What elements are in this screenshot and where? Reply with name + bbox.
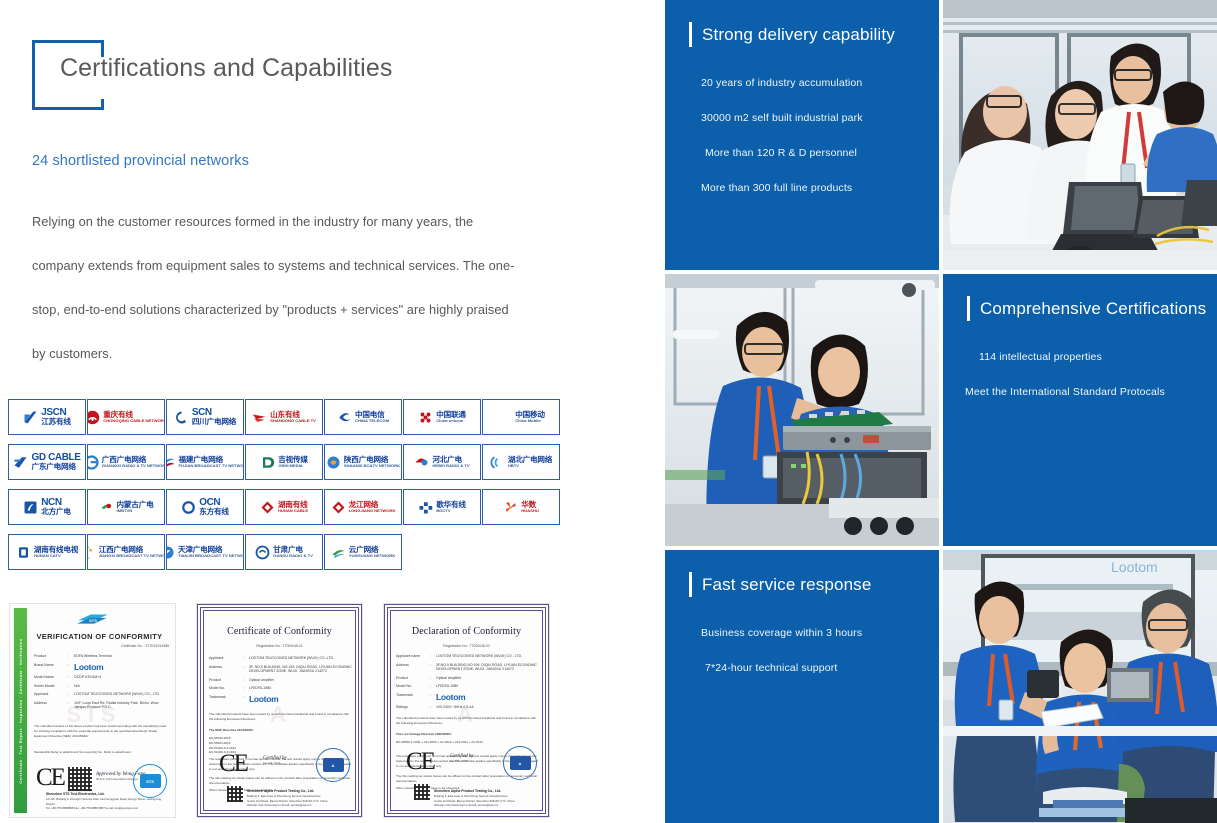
partner-logo-mark-icon	[331, 545, 346, 560]
partner-logo-en: TIANJIN BROADCAST TV NETWORK	[178, 554, 244, 558]
partner-logo-cell[interactable]: GD CABLE广东广电网络	[8, 444, 86, 480]
partner-logo-mark-icon	[260, 500, 275, 515]
panel-item-list: 20 years of industry accumulation 30000 …	[689, 77, 915, 217]
accent-bar-icon	[967, 296, 970, 321]
photo-rd-team-laboratory	[943, 0, 1217, 270]
footer-contact: Website: http://www.acpt.cn Email: servi…	[434, 803, 541, 807]
partner-logo-mark-icon	[23, 410, 38, 425]
qr-code-icon	[414, 784, 430, 800]
field-label: Trademark	[396, 693, 430, 702]
partner-logo-en: LONGJIANG NETWORK	[349, 509, 396, 513]
field-value: LFEDFA-1580	[249, 686, 354, 690]
partner-logo-en: China Mobile	[515, 419, 540, 423]
partner-logo-en: BGCTV	[436, 509, 450, 513]
partner-logo-text: 华数HUASHU	[521, 501, 539, 513]
field-label: Address	[396, 663, 430, 672]
footer-contact: Tel: +86-755-8888888 Fax: +86-755-8888 8…	[46, 806, 167, 810]
partner-logo-mark-icon	[99, 500, 114, 515]
panel-header: Comprehensive Certifications	[967, 296, 1193, 321]
partner-logo-text: 云广网络YUNGUANG NETWORK	[349, 546, 395, 558]
panel-fast-service-response: Fast service response Business coverage …	[665, 550, 939, 823]
panel-title: Comprehensive Certifications	[980, 299, 1206, 319]
photo-service-team-office: Lootom	[943, 550, 1217, 823]
field-label: Series Model	[34, 684, 68, 688]
partner-logo-cn: 江苏有线	[41, 418, 71, 426]
partner-logo-cn: 广东广电网络	[31, 463, 75, 471]
certificate-field: Model No. : LFEDFA-1580	[209, 686, 354, 690]
field-label: Product	[396, 676, 430, 680]
page-title: Certifications and Capabilities	[60, 54, 392, 83]
partner-logo-text: 歌华有线BGCTV	[436, 501, 466, 513]
partner-logo-en: HBTV	[508, 464, 519, 468]
panel-item: More than 300 full line products	[689, 182, 915, 194]
panel-item: 114 intellectual properties	[967, 351, 1193, 363]
field-label: Brand Name	[34, 663, 68, 672]
partner-logo-cell[interactable]: 歌华有线BGCTV	[403, 489, 481, 525]
partner-logo-cell[interactable]: 河北广电HEBEI RADIO & TV	[403, 444, 481, 480]
partner-logo-cell[interactable]: 重庆有线CHONGQING CABLE NETWORK	[87, 399, 165, 435]
field-label: Product	[209, 678, 243, 682]
panel-title: Fast service response	[702, 575, 871, 595]
partner-logo-mark-icon	[418, 500, 433, 515]
field-value: LOOTOM TELECOIVED NETWORK (WUXI) CO., LT…	[436, 654, 541, 658]
partner-logo-mark-icon	[252, 410, 267, 425]
certificate-paragraph: The submitted sample of the above produc…	[34, 724, 169, 738]
partner-logo-cell[interactable]: 甘肃广电GANSU RADIO & TV	[245, 534, 323, 570]
partner-logo-mark-icon	[326, 455, 341, 470]
partner-logo-en: GUANGXI RADIO & TV NETWORK	[102, 464, 165, 468]
accent-bar-icon	[689, 22, 692, 47]
official-seal-icon: A	[316, 748, 350, 782]
intro-line-4: by customers.	[32, 332, 524, 376]
panel-item: More than 120 R & D personnel	[689, 147, 915, 159]
partner-logo-cell[interactable]: 吉视传媒JISHI MEDIA	[245, 444, 323, 480]
signature-date: June 04, 2018	[263, 761, 287, 765]
official-seal-icon: A	[503, 746, 537, 780]
panel-item: 20 years of industry accumulation	[689, 77, 915, 89]
signature-block: Certified by June 04, 2018	[263, 756, 287, 765]
partner-logo-text: NCN北方广电	[41, 498, 71, 516]
certificate-paragraph: The submitted products have been tested …	[209, 712, 354, 722]
intro-line-3: stop, end-to-end solutions characterized…	[32, 288, 524, 332]
partner-logo-mark-icon	[16, 545, 31, 560]
partner-logo-mark-icon	[260, 455, 275, 470]
partner-logo-text: 吉视传媒JISHI MEDIA	[278, 456, 308, 468]
certificate-field: Product : EDFA Wireless Terminal	[34, 654, 169, 658]
partner-logo-text: 天津广电网络TIANJIN BROADCAST TV NETWORK	[178, 546, 244, 558]
partner-logo-mark-icon	[23, 500, 38, 515]
field-value: LOOTOM TELECOIVED NETWORK (WUXI) CO., LT…	[74, 692, 169, 696]
partner-logo-cell[interactable]: 中国电信CHINA TELECOM	[324, 399, 402, 435]
partner-logo-cell[interactable]: 云广网络YUNGUANG NETWORK	[324, 534, 402, 570]
partner-logo-text: 福建广电网络FUJIAN BROADCAST TV NETWORK	[179, 456, 245, 468]
partner-logo-cell[interactable]: 天津广电网络TIANJIN BROADCAST TV NETWORK	[166, 534, 244, 570]
certificate-card[interactable]: Declaration of Conformity Registration N…	[384, 604, 549, 817]
certificate-field: Series Model : N/A	[34, 684, 169, 688]
partner-logo-text: JSCN江苏有线	[41, 408, 71, 426]
partner-logo-en: IMBTVN	[117, 509, 133, 513]
qr-code-icon	[227, 786, 243, 802]
partner-logo-cell[interactable]: OCN东方有线	[166, 489, 244, 525]
standard-item: EN 60950-1:2006 + A11:2009 + A1:2010 + A…	[396, 740, 541, 745]
partner-logo-text: 龙江网络LONGJIANG NETWORK	[349, 501, 396, 513]
certificate-field: Applicant name : LOOTOM TELECOIVED NETWO…	[396, 654, 541, 658]
certificate-field: Address : 3F, NO.9 BUILDING, NO.199, DIQ…	[209, 665, 354, 674]
partner-logo-text: 重庆有线CHONGQING CABLE NETWORK	[103, 411, 165, 423]
certificate-fields: Applicant : LOOTOM TELECOIVED NETWORK (W…	[209, 656, 354, 707]
partner-logo-cell[interactable]: 中国联通China unicom	[403, 399, 481, 435]
certificate-card[interactable]: Certificate of Conformity Registration N…	[197, 604, 362, 817]
partner-logo-cell[interactable]: 陕西广电网络SHAANXI BC&TV NETWORK	[324, 444, 402, 480]
panel-item: 7*24-hour technical support	[689, 662, 915, 674]
brand-name: Lootom	[74, 663, 169, 672]
certificate-card[interactable]: Certificate · Test Report · Inspection ·…	[10, 604, 175, 817]
partner-logo-mark-icon	[255, 545, 270, 560]
footer-company: Shenzhen STS Test Electronics, Ltd.	[46, 792, 105, 796]
partner-logo-en: CHINA TELECOM	[355, 419, 389, 423]
partner-logo-cell[interactable]: 湖北广电网络HBTV	[482, 444, 560, 480]
certificate-body: STS VERIFICATION OF CONFORMITY Certifica…	[10, 604, 175, 817]
field-label: Trademark	[209, 695, 243, 704]
partner-logo-mark-icon	[166, 455, 176, 470]
partner-logo-cell[interactable]: 龙江网络LONGJIANG NETWORK	[324, 489, 402, 525]
partner-logo-text: 陕西广电网络SHAANXI BC&TV NETWORK	[344, 456, 400, 468]
brand-name: Lootom	[436, 693, 541, 702]
certificate-field: Applicant : LOOTOM TELECOIVED NETWORK (W…	[209, 656, 354, 660]
partner-logo-text: OCN东方有线	[199, 498, 229, 516]
partner-logo-en: HUASHU	[521, 509, 539, 513]
partner-logo-text: GD CABLE广东广电网络	[31, 453, 80, 471]
field-value: OCDP-KEH1M-H	[74, 675, 169, 679]
field-label: Address	[34, 701, 68, 710]
partner-logo-en: SHANDONG CABLE TV	[270, 419, 316, 423]
partner-logo-mark-icon	[13, 455, 28, 470]
partner-logo-en: CHONGQING CABLE NETWORK	[103, 419, 165, 423]
qr-code-icon	[68, 767, 92, 791]
directive-title: The Low Voltage Directive 2006/95/EC	[396, 732, 541, 737]
partner-logo-cn: 东方有线	[199, 508, 229, 516]
certificate-registration: Certificate No. : STS101914985	[30, 644, 169, 648]
partner-logo-en: HUNAN CABLE	[278, 509, 308, 513]
field-label: Ratings	[396, 705, 430, 709]
partner-logo-cell[interactable]: 福建广电网络FUJIAN BROADCAST TV NETWORK	[166, 444, 244, 480]
panel-item: Business coverage within 3 hours	[689, 627, 915, 639]
panel-header: Strong delivery capability	[689, 22, 915, 47]
field-value: EDFA Wireless Terminal	[74, 654, 169, 658]
partner-logo-text: 中国移动China Mobile	[515, 411, 545, 423]
panel-item: Meet the International Standard Protocal…	[965, 386, 1193, 398]
partner-logo-mark-icon	[490, 455, 505, 470]
field-label: Applicant	[34, 692, 68, 696]
partner-logo-mark-icon	[414, 455, 429, 470]
partner-logo-mark-icon	[174, 410, 189, 425]
field-value: 3F,NO.9 BUILDING,NO.199, DIQIU ROAD, LIY…	[436, 663, 541, 672]
partner-logo-mark-icon	[337, 410, 352, 425]
field-label: Product	[34, 654, 68, 658]
brand-name: Lootom	[249, 695, 354, 704]
partner-logo-text: 江西广电网络JIANGXI BROADCAST TV NETWORK	[99, 546, 165, 558]
partner-logo-mark-icon	[503, 500, 518, 515]
partner-logo-text: 湖南有线电视HUNAN CATV	[34, 546, 78, 558]
seal-text: STS	[140, 774, 161, 788]
certificate-row: Certificate · Test Report · Inspection ·…	[10, 604, 549, 817]
certificate-field: Product : Optical amplifier	[396, 676, 541, 680]
partner-logo-mark-icon	[181, 500, 196, 515]
partner-logo-text: 山东有线SHANDONG CABLE TV	[270, 411, 316, 423]
partner-logo-text: 内蒙古广电IMBTVN	[117, 501, 154, 513]
footer-contact: Website: http://www.acpt.cn Email: servi…	[247, 803, 354, 807]
field-label: Model No.	[209, 686, 243, 690]
partner-logo-en: HEBEI RADIO & TV	[432, 464, 469, 468]
capabilities-page: Certifications and Capabilities 24 short…	[0, 0, 1217, 823]
section-subheading: 24 shortlisted provincial networks	[32, 153, 249, 169]
certificate-title: Certificate of Conformity	[205, 626, 354, 637]
partner-logo-mark-icon	[87, 410, 100, 425]
partner-logo-mark-icon	[497, 410, 512, 425]
partner-logo-cell[interactable]: 广西广电网络GUANGXI RADIO & TV NETWORK	[87, 444, 165, 480]
left-content-column: Certifications and Capabilities 24 short…	[0, 0, 665, 823]
panel-item: 30000 m2 self built industrial park	[689, 112, 915, 124]
field-label: Model No.	[396, 684, 430, 688]
ce-mark-icon: CE	[406, 748, 434, 776]
certificate-title: Declaration of Conformity	[392, 626, 541, 637]
accent-bar-icon	[689, 572, 692, 597]
photo-illustration: Lootom	[943, 550, 1217, 823]
partner-logo-text: 广西广电网络GUANGXI RADIO & TV NETWORK	[102, 456, 165, 468]
photo-illustration	[943, 0, 1217, 270]
partner-logo-text: 甘肃广电GANSU RADIO & TV	[273, 546, 313, 558]
svg-text:Lootom: Lootom	[1111, 559, 1158, 575]
partner-logo-en: FUJIAN BROADCAST TV NETWORK	[179, 464, 245, 468]
field-label: Applicant	[209, 656, 243, 660]
footer-company: Shenzhen Alpha Product Testing Co., Ltd.	[434, 789, 501, 793]
partner-logo-cn: 四川广电网络	[192, 418, 236, 426]
certificate-field: Trademark : Lootom	[396, 693, 541, 702]
panel-strong-delivery-capability: Strong delivery capability 20 years of i…	[665, 0, 939, 270]
field-value: N/A	[74, 684, 169, 688]
field-label: Model Name	[34, 675, 68, 679]
certificate-field: Model No. : LFEDFA-1580	[396, 684, 541, 688]
certificate-registration: Registration No.: TT000048-02	[392, 644, 541, 648]
partner-logo-mark-icon	[87, 545, 96, 560]
field-value: LOOTOM TELECOIVED NETWORK (WUXI) CO.,LTD…	[249, 656, 354, 660]
partner-logo-en: HUNAN CATV	[34, 554, 61, 558]
seal-text: A	[323, 758, 344, 772]
intro-line-2: company extends from equipment sales to …	[32, 244, 524, 288]
ce-mark-icon: CE	[36, 764, 64, 792]
partner-logo-mark-icon	[418, 410, 433, 425]
field-value: 3F, NO.9 BUILDING, NO.199, DIQIU ROAD, L…	[249, 665, 354, 674]
footer-address: 1/F-3/F, Building 6, Zhongxin Science Pa…	[46, 797, 167, 805]
partner-logo-text: 中国联通China unicom	[436, 411, 466, 423]
certificate-footer: Shenzhen Alpha Product Testing Co., Ltd.…	[434, 789, 541, 807]
svg-text:STS: STS	[89, 618, 97, 623]
partner-logo-en: SHAANXI BC&TV NETWORK	[344, 464, 400, 468]
certificate-footer: Shenzhen STS Test Electronics, Ltd. 1/F-…	[46, 792, 167, 810]
certificate-field: Product : Optical amplifier	[209, 678, 354, 682]
partner-logo-en: YUNGUANG NETWORK	[349, 554, 395, 558]
certificate-note: Standard(s) Refer to attachment Test rep…	[34, 750, 169, 755]
partner-logo-cell[interactable]: SCN四川广电网络	[166, 399, 244, 435]
field-label: Applicant name	[396, 654, 430, 658]
certificate-footer: Shenzhen Alpha Product Testing Co., Ltd.…	[247, 789, 354, 807]
partner-logo-grid: JSCN江苏有线重庆有线CHONGQING CABLE NETWORKSCN四川…	[8, 399, 568, 570]
partner-logo-en: JISHI MEDIA	[278, 464, 303, 468]
partner-logo-mark-icon	[87, 455, 99, 470]
partner-logo-mark-icon	[331, 500, 346, 515]
partner-logo-cell[interactable]: JSCN江苏有线	[8, 399, 86, 435]
panel-comprehensive-certifications: Comprehensive Certifications 114 intelle…	[943, 274, 1217, 546]
field-value: 100-240V~,50Hz,0.3-4A	[436, 705, 541, 709]
certificate-registration: Registration No.: TT000048-01	[205, 644, 354, 648]
ce-mark-icon: CE	[219, 750, 247, 778]
partner-logo-cell[interactable]: 内蒙古广电IMBTVN	[87, 489, 165, 525]
partner-logo-en: GANSU RADIO & TV	[273, 554, 313, 558]
panel-header: Fast service response	[689, 572, 915, 597]
partner-logo-mark-icon	[166, 545, 175, 560]
partner-logo-text: 河北广电HEBEI RADIO & TV	[432, 456, 469, 468]
photo-engineers-production-line	[665, 274, 939, 546]
directive-title: The EMC Directive 2014/30/EU	[209, 728, 354, 733]
field-value: LFEDFA-1580	[436, 684, 541, 688]
certificate-body: Declaration of Conformity Registration N…	[384, 604, 549, 817]
certificate-title: VERIFICATION OF CONFORMITY	[30, 632, 169, 641]
partner-logo-text: 湖北广电网络HBTV	[508, 456, 552, 468]
signature-block: Certified by June 04, 2018	[450, 754, 474, 763]
field-value: Optical amplifier	[436, 676, 541, 680]
field-label: Address	[209, 665, 243, 674]
page-title-block: Certifications and Capabilities	[32, 40, 502, 110]
certificate-field: Model Name : OCDP-KEH1M-H	[34, 675, 169, 679]
partner-logo-cell[interactable]: NCN北方广电	[8, 489, 86, 525]
partner-logo-text: SCN四川广电网络	[192, 408, 236, 426]
sts-logo-icon: STS	[76, 612, 110, 625]
panel-item-list: Business coverage within 3 hours 7*24-ho…	[689, 627, 915, 697]
seal-text: A	[510, 756, 531, 770]
partner-logo-cell[interactable]: 湖南有线电视HUNAN CATV	[8, 534, 86, 570]
partner-logo-cn: 北方广电	[41, 508, 71, 516]
partner-logo-text: 中国电信CHINA TELECOM	[355, 411, 389, 423]
partner-logo-cell[interactable]: 山东有线SHANDONG CABLE TV	[245, 399, 323, 435]
right-feature-grid: Strong delivery capability 20 years of i…	[665, 0, 1217, 823]
panel-title: Strong delivery capability	[702, 25, 895, 45]
certificate-paragraph: The submitted products have been tested …	[396, 716, 541, 726]
partner-logo-en: JIANGXI BROADCAST TV NETWORK	[99, 554, 165, 558]
panel-item-list: 114 intellectual properties Meet the Int…	[967, 351, 1193, 421]
certificate-field: Applicant : LOOTOM TELECOIVED NETWORK (W…	[34, 692, 169, 696]
partner-logo-text: 湖南有线HUNAN CABLE	[278, 501, 308, 513]
signature-date: June 04, 2018	[450, 759, 474, 763]
footer-company: Shenzhen Alpha Product Testing Co., Ltd.	[247, 789, 314, 793]
partner-logo-cell[interactable]: 湖南有线HUNAN CABLE	[245, 489, 323, 525]
intro-line-1: Relying on the customer resources formed…	[32, 200, 524, 244]
partner-logo-cell[interactable]: 中国移动China Mobile	[482, 399, 560, 435]
partner-logo-cell[interactable]: 江西广电网络JIANGXI BROADCAST TV NETWORK	[87, 534, 165, 570]
certificate-field: Address : 3F,NO.9 BUILDING,NO.199, DIQIU…	[396, 663, 541, 672]
partner-logo-en: China unicom	[436, 419, 463, 423]
photo-illustration	[665, 274, 939, 546]
intro-paragraph: Relying on the customer resources formed…	[32, 200, 524, 376]
certificate-body: Certificate of Conformity Registration N…	[197, 604, 362, 817]
field-value: Optical amplifier	[249, 678, 354, 682]
certificate-field: Brand Name : Lootom	[34, 663, 169, 672]
partner-logo-cell[interactable]: 华数HUASHU	[482, 489, 560, 525]
